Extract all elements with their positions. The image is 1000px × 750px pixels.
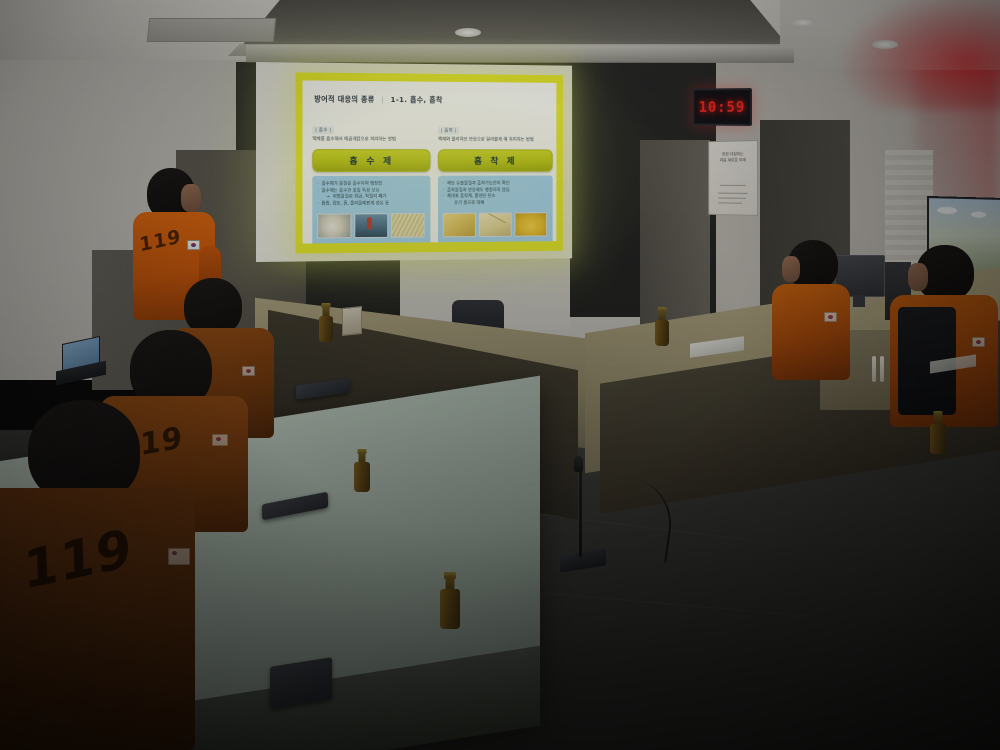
cabinet-handle-icon (880, 356, 884, 382)
slide-title-separator: | (381, 95, 384, 104)
bottle-body (440, 589, 460, 629)
bottle-body (655, 320, 669, 346)
column-tag: | 흡수 | (312, 126, 334, 134)
wall-led-clock: 10:59 (693, 88, 752, 126)
column-tag: | 흡착 | (438, 127, 459, 135)
slide-content: 방어적 대응의 종류 | 1-1. 흡수, 흡착 | 흡수 | 액체를 흡수해서… (302, 80, 556, 243)
person-attendee-right-far (890, 245, 1000, 430)
thumbnail-sea-spill-icon (354, 213, 388, 238)
column-description: 액체를 흡수해서 매곱개캅으로 저리하는 방법 (312, 137, 430, 143)
bottle-body (319, 316, 333, 342)
thumbnail-yellow-pad-2-icon (479, 212, 512, 237)
slide-title-sub: 1-1. 흡수, 흡착 (391, 95, 443, 104)
column-description: 액체와 물리적인 반응으로 달라붙게 해 처리하는 방법 (438, 138, 553, 144)
drink-bottle[interactable] (319, 306, 333, 344)
projection-screen: 방어적 대응의 종류 | 1-1. 흡수, 흡착 | 흡수 | 액체를 흡수해서… (256, 62, 572, 262)
bullet-text: 유기 흙으로 대체 (454, 201, 484, 208)
bullet-item: 유기 흙으로 대체 (443, 201, 548, 208)
drink-bottle[interactable] (354, 452, 370, 496)
microphone-head-icon (574, 456, 583, 472)
wall-poster-frame: 안전 다짐하는 마음 새로운 미래 (708, 140, 758, 216)
clock-time: 10:59 (699, 98, 746, 116)
bullet-text: 톱밥, 점토, 흙, 폴리올레핀계 섬유 등 (322, 202, 389, 209)
korean-flag-patch-icon (972, 337, 985, 347)
slide-title-main: 방어적 대응의 종류 (314, 94, 374, 103)
downlight-icon (790, 18, 816, 27)
poster-rule (720, 185, 746, 186)
thumbnail-yellow-pad-3-icon (514, 212, 547, 236)
thumbnail-sawdust-icon (391, 213, 425, 238)
person-attendee-right-near (770, 240, 860, 380)
slide-column-adsorption: | 흡착 | 액체와 물리적인 반응으로 달라붙게 해 처리하는 방법 흡 착 … (438, 117, 553, 244)
poster-line-2: 마음 새로운 미래 (720, 157, 746, 162)
face (782, 256, 800, 282)
red-ceiling-glow (840, 0, 1000, 110)
korean-flag-patch-icon (187, 240, 200, 250)
slide-title: 방어적 대응의 종류 | 1-1. 흡수, 흡착 (314, 94, 442, 105)
ceiling-vent (147, 18, 277, 42)
column-heading-box: 흡 착 제 (438, 149, 553, 172)
cloud-icon (971, 211, 986, 217)
drink-bottle[interactable] (930, 414, 946, 458)
bullet-marker: · (443, 195, 444, 202)
face (908, 263, 928, 291)
projector-screen-housing (246, 45, 794, 63)
poster-line-1: 안전 다짐하는 (722, 151, 743, 156)
bullet-marker: · (317, 182, 318, 189)
thumbnail-yellow-pad-1-icon (443, 213, 476, 238)
bullet-marker: · (317, 202, 318, 209)
bottle-body (930, 424, 946, 454)
thumbnail-bowl-absorbent-icon (317, 213, 351, 238)
poster-text: 안전 다짐하는 마음 새로운 미래 (715, 151, 752, 163)
poster-rule (718, 202, 742, 203)
column-heading-text: 흡 수 제 (349, 154, 394, 167)
downlight-icon (872, 40, 898, 49)
bottle-neck (446, 575, 455, 590)
slide-column-absorption: | 흡수 | 액체를 흡수해서 매곱개캅으로 저리하는 방법 흡 수 제 · 흡… (312, 116, 430, 243)
product-box[interactable] (342, 306, 362, 336)
cloud-icon (937, 207, 957, 215)
column-body: · 흡수제가 물질을 흡수하여 팽창함 · 흡수제는 흡수한 물질 특성 보유 … (312, 176, 430, 244)
korean-flag-patch-icon (824, 312, 837, 322)
microphone-stem (579, 462, 582, 557)
presentation-slide: 방어적 대응의 종류 | 1-1. 흡수, 흡착 | 흡수 | 액체를 흡수해서… (296, 72, 563, 253)
bullet-item: · 톱밥, 점토, 흙, 폴리올레핀계 섬유 등 (317, 201, 425, 208)
korean-flag-patch-icon (168, 548, 190, 565)
drink-bottle[interactable] (440, 575, 460, 633)
meeting-room-photo: 방어적 대응의 종류 | 1-1. 흡수, 흡착 | 흡수 | 액체를 흡수해서… (0, 0, 1000, 750)
wood-panel-right (640, 140, 710, 340)
poster-rule (718, 193, 747, 194)
column-thumbnails (443, 212, 548, 237)
column-heading-text: 흡 착 제 (474, 154, 517, 167)
poster-rule (718, 197, 746, 198)
column-thumbnails (317, 213, 425, 238)
bullet-marker: · (317, 189, 318, 196)
column-heading-box: 흡 수 제 (312, 149, 430, 172)
cabinet-handle-icon (872, 356, 876, 382)
drink-bottle[interactable] (655, 310, 669, 348)
person-attendee-left-front: 119 (0, 400, 215, 750)
downlight-icon (455, 28, 481, 37)
bottle-body (354, 462, 370, 492)
column-body: · 해당 유출물질과 흡착가능한지 확인 · 흡착물질과 반응해도 팽창하지 않… (438, 175, 553, 243)
face (181, 184, 201, 212)
uniform-jacket (772, 284, 850, 380)
